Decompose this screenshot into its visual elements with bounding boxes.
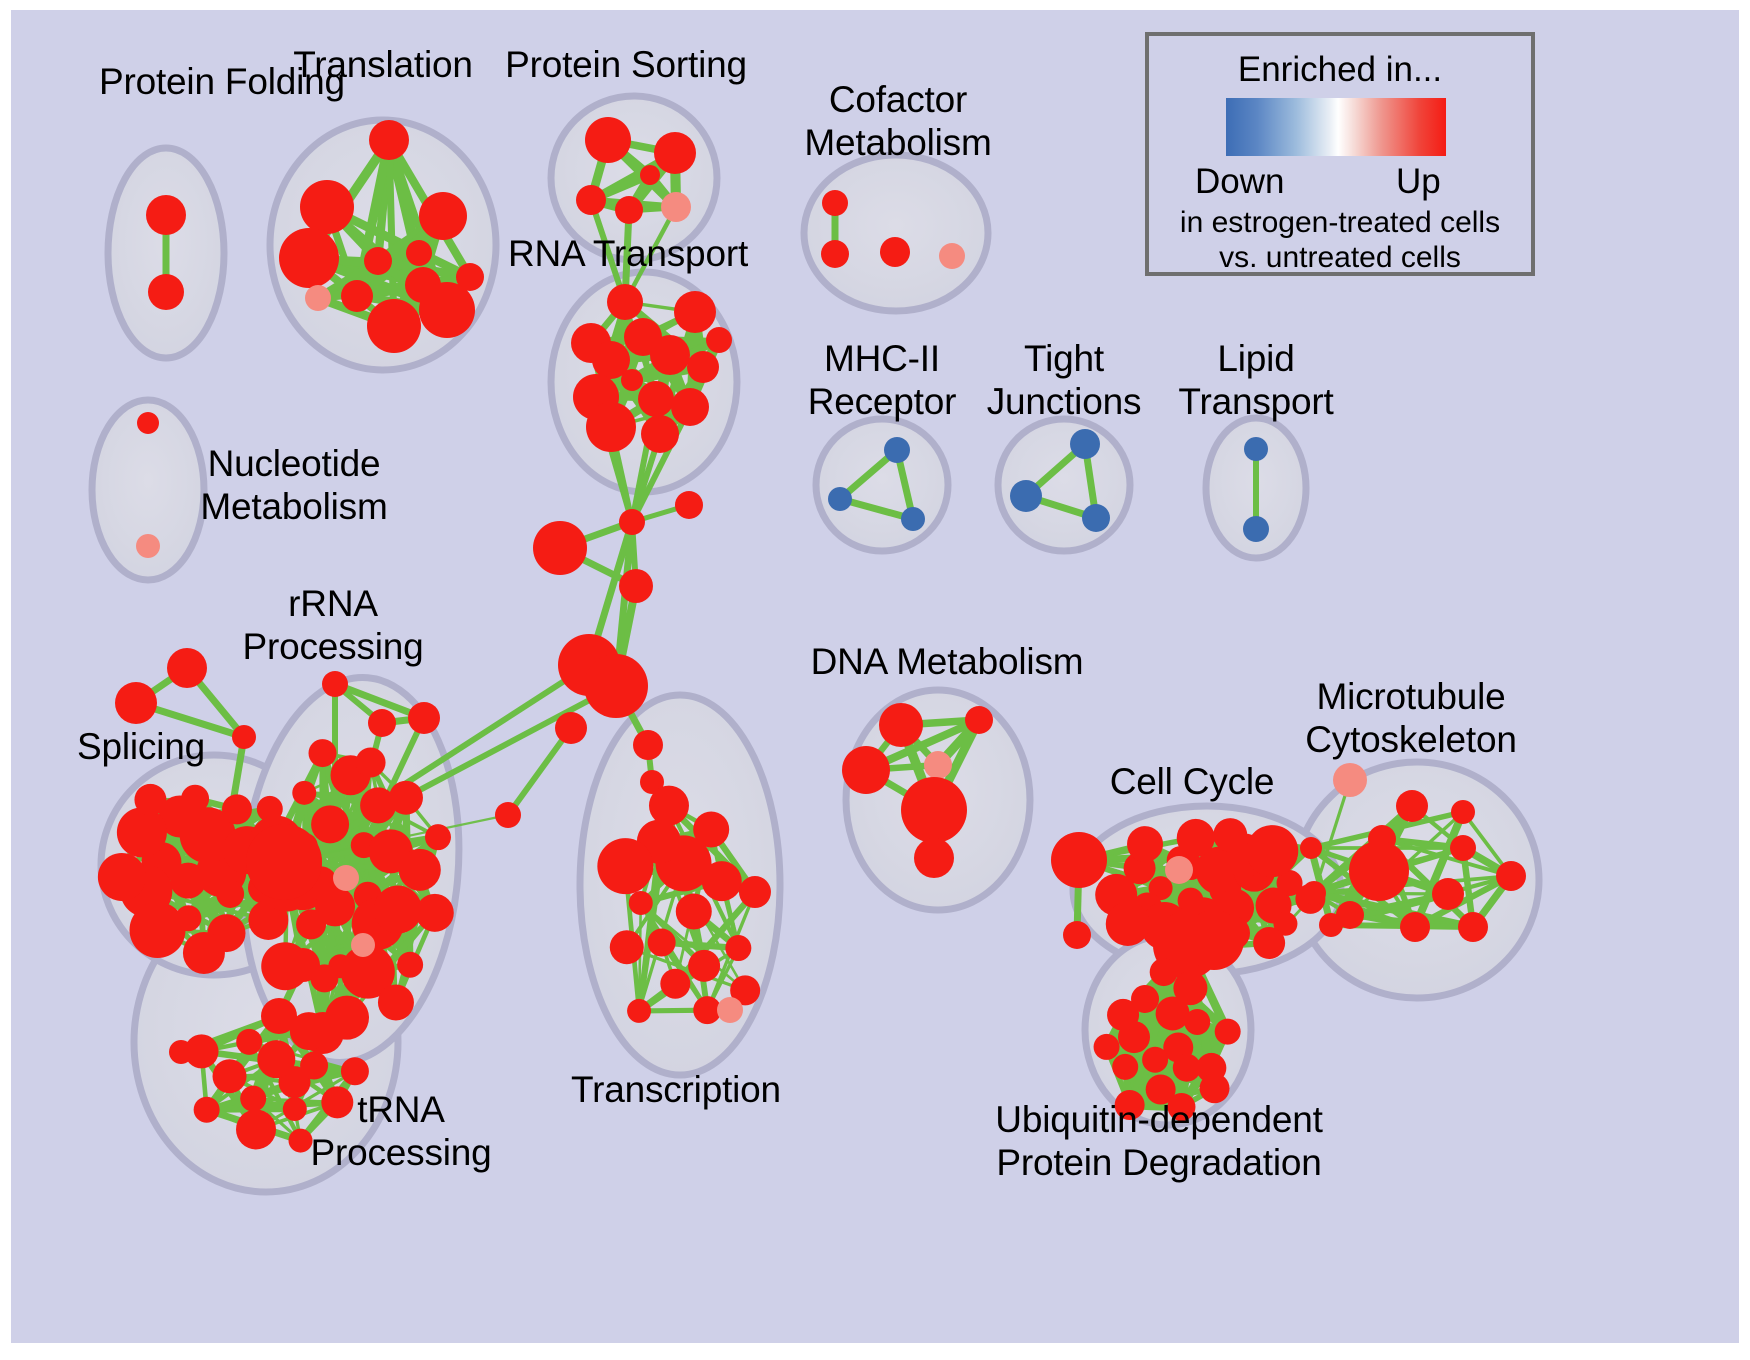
network-node: [397, 952, 423, 978]
network-node: [1063, 921, 1091, 949]
network-node: [739, 876, 771, 908]
network-node: [555, 712, 587, 744]
network-node: [216, 880, 244, 908]
network-node: [641, 415, 679, 453]
network-node: [1396, 790, 1428, 822]
cluster-label-cell-cycle: Cell Cycle: [1110, 760, 1275, 803]
cluster-label-trna-processing: tRNAProcessing: [310, 1088, 491, 1174]
network-node: [1213, 818, 1247, 852]
network-node: [638, 381, 674, 417]
network-node: [137, 412, 159, 434]
network-node: [585, 117, 631, 163]
network-node: [167, 648, 207, 688]
network-node: [1319, 913, 1343, 937]
network-node: [1458, 912, 1488, 942]
network-node: [660, 969, 690, 999]
network-node: [675, 491, 703, 519]
network-node: [597, 838, 653, 894]
network-node: [1333, 763, 1367, 797]
network-node: [654, 132, 696, 174]
network-node: [406, 240, 432, 266]
network-node: [661, 192, 691, 222]
network-node: [693, 811, 729, 847]
network-node: [674, 291, 716, 333]
network-node: [1300, 837, 1322, 859]
network-node: [419, 192, 467, 240]
network-node: [408, 702, 440, 734]
network-node: [1450, 835, 1476, 861]
network-node: [495, 802, 521, 828]
network-node: [134, 784, 166, 816]
network-node: [117, 807, 167, 857]
network-node: [213, 1059, 247, 1093]
network-node: [368, 709, 396, 737]
cluster-label-cofactor-metabolism: CofactorMetabolism: [804, 78, 991, 164]
network-node: [1244, 437, 1268, 461]
network-node: [309, 739, 337, 767]
network-node: [341, 280, 373, 312]
network-node: [222, 794, 252, 824]
network-node: [1051, 832, 1107, 888]
network-node: [901, 507, 925, 531]
cluster-label-rna-transport: RNA Transport: [508, 232, 748, 275]
network-node: [1082, 504, 1110, 532]
network-node: [1302, 881, 1326, 905]
network-node: [1184, 910, 1244, 970]
network-node: [842, 746, 890, 794]
network-node: [246, 824, 322, 900]
network-node: [364, 247, 392, 275]
cluster-label-nucleotide-metabolism: NucleotideMetabolism: [200, 442, 387, 528]
network-node: [1432, 878, 1464, 910]
cluster-ellipse-mhcii-receptor: [816, 419, 948, 551]
network-node: [1243, 516, 1269, 542]
network-node: [115, 682, 157, 724]
network-node: [1177, 819, 1215, 857]
network-node: [822, 190, 848, 216]
network-node: [1349, 841, 1409, 901]
network-node: [610, 930, 644, 964]
network-node: [389, 781, 423, 815]
legend-low-label: Down: [1195, 162, 1284, 202]
network-node: [296, 909, 326, 939]
network-node: [367, 299, 421, 353]
network-node: [290, 1012, 328, 1050]
network-node: [305, 285, 331, 311]
cluster-label-splicing: Splicing: [77, 725, 205, 768]
network-node: [880, 237, 910, 267]
network-node: [1150, 958, 1178, 986]
legend-subtitle-line-1: in estrogen-treated cells: [1149, 206, 1531, 240]
network-node: [621, 369, 643, 391]
network-node: [688, 950, 720, 982]
network-node: [146, 195, 186, 235]
network-node: [965, 706, 993, 734]
network-node: [884, 437, 910, 463]
network-node: [148, 274, 184, 310]
network-node: [1010, 480, 1042, 512]
network-node: [169, 1040, 193, 1064]
network-node: [1106, 902, 1150, 946]
network-node: [399, 849, 441, 891]
network-node: [1400, 912, 1430, 942]
network-node: [821, 240, 849, 268]
legend-box: Enriched in... Down Up in estrogen-treat…: [1145, 32, 1535, 276]
cluster-label-microtubule-cytoskeleton: MicrotubuleCytoskeleton: [1305, 675, 1517, 761]
network-node: [1142, 1047, 1168, 1073]
network-node: [615, 196, 643, 224]
network-node: [378, 985, 414, 1021]
network-node: [619, 569, 653, 603]
cluster-label-dna-metabolism: DNA Metabolism: [811, 640, 1084, 683]
network-node: [676, 893, 712, 929]
network-node: [416, 894, 454, 932]
network-node: [236, 1109, 276, 1149]
network-node: [286, 948, 320, 982]
network-node: [939, 243, 965, 269]
network-node: [279, 228, 339, 288]
cluster-label-protein-sorting: Protein Sorting: [505, 43, 747, 86]
legend-color-scale: [1226, 98, 1446, 156]
network-node: [311, 805, 349, 843]
network-node: [341, 1057, 369, 1085]
network-node: [649, 786, 689, 826]
network-node: [1107, 999, 1139, 1031]
network-node: [629, 891, 653, 915]
network-node: [1173, 971, 1207, 1005]
network-node: [586, 402, 636, 452]
network-node: [257, 1040, 295, 1078]
legend-high-label: Up: [1396, 162, 1441, 202]
legend-title: Enriched in...: [1149, 50, 1531, 90]
network-node: [901, 777, 967, 843]
network-node: [236, 1029, 262, 1055]
network-node: [1246, 825, 1298, 877]
enrichment-map-figure: Protein Folding Translation Protein Sort…: [11, 10, 1739, 1343]
network-node: [914, 838, 954, 878]
network-node: [1070, 429, 1100, 459]
network-node: [356, 747, 386, 777]
network-node: [374, 886, 422, 934]
cluster-label-mhcii-receptor: MHC-IIReceptor: [808, 337, 957, 423]
cluster-label-lipid-transport: LipidTransport: [1178, 337, 1333, 423]
network-node: [333, 865, 359, 891]
network-node: [98, 853, 146, 901]
network-node: [351, 933, 375, 957]
network-node: [1112, 1054, 1138, 1080]
network-node: [650, 335, 690, 375]
network-node: [300, 1052, 328, 1080]
cluster-label-ubiquitin-degradation: Ubiquitin-dependentProtein Degradation: [995, 1098, 1322, 1184]
network-node: [292, 781, 316, 805]
network-node: [1451, 800, 1475, 824]
network-node: [1184, 1009, 1210, 1035]
network-node: [533, 521, 587, 575]
network-node: [183, 932, 225, 974]
network-node: [194, 1097, 220, 1123]
network-node: [607, 284, 643, 320]
network-node: [706, 327, 732, 353]
network-node: [828, 487, 852, 511]
network-node: [619, 509, 645, 535]
network-node: [576, 185, 606, 215]
cluster-label-tight-junctions: TightJunctions: [987, 337, 1142, 423]
cluster-label-rrna-processing: rRNAProcessing: [242, 582, 423, 668]
network-node: [1215, 1019, 1241, 1045]
network-node: [456, 263, 484, 291]
network-node: [633, 730, 663, 760]
network-node: [648, 929, 676, 957]
network-node: [1496, 861, 1526, 891]
network-node: [300, 180, 354, 234]
network-node: [640, 165, 660, 185]
network-node: [283, 1097, 307, 1121]
cluster-label-transcription: Transcription: [571, 1068, 781, 1111]
network-node: [671, 388, 709, 426]
network-node: [1253, 927, 1285, 959]
network-node: [232, 725, 256, 749]
network-node: [425, 824, 451, 850]
cluster-label-translation: Translation: [293, 43, 472, 86]
network-node: [584, 654, 648, 718]
network-node: [687, 351, 719, 383]
network-node: [322, 671, 348, 697]
network-node: [136, 534, 160, 558]
network-node: [240, 1086, 266, 1112]
network-node: [369, 120, 409, 160]
network-node: [702, 861, 742, 901]
network-node: [1165, 856, 1193, 884]
network-node: [725, 935, 751, 961]
legend-subtitle-line-2: vs. untreated cells: [1149, 241, 1531, 275]
network-node: [289, 1129, 313, 1153]
network-node: [717, 997, 743, 1023]
network-node: [627, 999, 651, 1023]
network-node: [1094, 1034, 1120, 1060]
network-node: [879, 703, 923, 747]
network-node: [130, 902, 186, 958]
network-node: [1127, 826, 1163, 862]
network-node: [181, 785, 209, 813]
network-node: [924, 751, 952, 779]
